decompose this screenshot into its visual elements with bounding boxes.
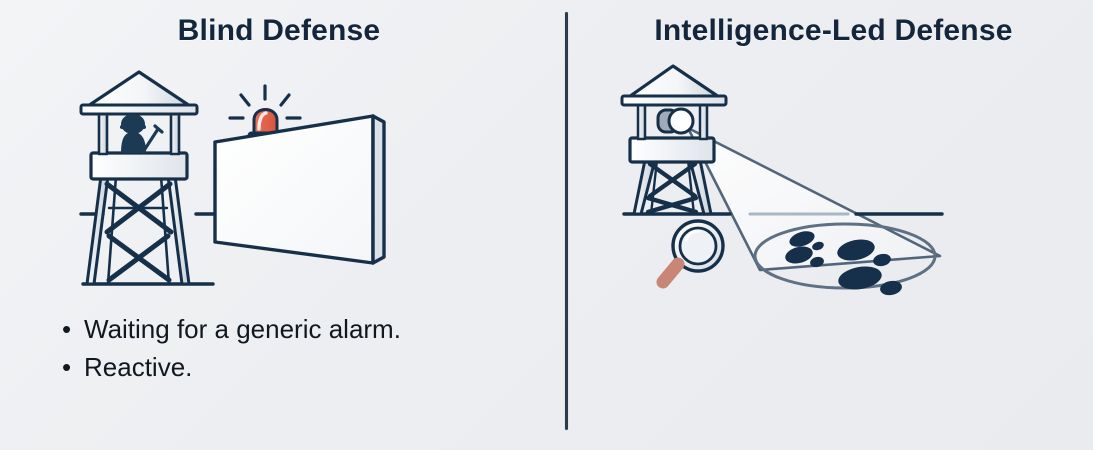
roof-eave bbox=[81, 105, 197, 114]
left-bullet-list: • Waiting for a generic alarm. • Reactiv… bbox=[62, 312, 532, 388]
tower-roof bbox=[626, 66, 722, 99]
left-panel-blind-defense: Blind Defense bbox=[0, 0, 546, 450]
list-item: • Waiting for a generic alarm. bbox=[62, 312, 532, 348]
guard-tower bbox=[622, 66, 726, 214]
left-panel-title: Blind Defense bbox=[0, 14, 552, 48]
panel-divider bbox=[565, 12, 568, 430]
guard-figure bbox=[120, 114, 146, 153]
roof-eave bbox=[622, 96, 726, 105]
blind-defense-svg bbox=[63, 56, 483, 306]
tower-balcony bbox=[630, 138, 714, 162]
bullet-text: Reactive. bbox=[84, 350, 532, 386]
list-item: • Reactive. bbox=[62, 350, 532, 386]
searchlight-head bbox=[658, 109, 693, 133]
left-illustration bbox=[0, 56, 546, 306]
blank-wall bbox=[215, 116, 384, 263]
rifle bbox=[143, 126, 162, 152]
tower-roof bbox=[85, 72, 193, 108]
tower-balcony bbox=[91, 153, 187, 179]
right-panel-title: Intelligence-Led Defense bbox=[546, 14, 1093, 48]
intelligence-led-defense-svg bbox=[610, 56, 1030, 306]
tower-legs bbox=[87, 176, 189, 284]
bullet-marker: • bbox=[62, 350, 84, 386]
tower-legs bbox=[634, 160, 711, 214]
comparison-stage: Blind Defense bbox=[0, 0, 1093, 450]
bullet-text: Waiting for a generic alarm. bbox=[84, 312, 532, 348]
guard-tower bbox=[81, 72, 197, 284]
bullet-marker: • bbox=[62, 312, 84, 348]
right-panel-intelligence-led-defense: Intelligence-Led Defense bbox=[546, 0, 1093, 450]
magnifying-glass bbox=[663, 221, 723, 282]
right-illustration bbox=[546, 56, 1093, 306]
